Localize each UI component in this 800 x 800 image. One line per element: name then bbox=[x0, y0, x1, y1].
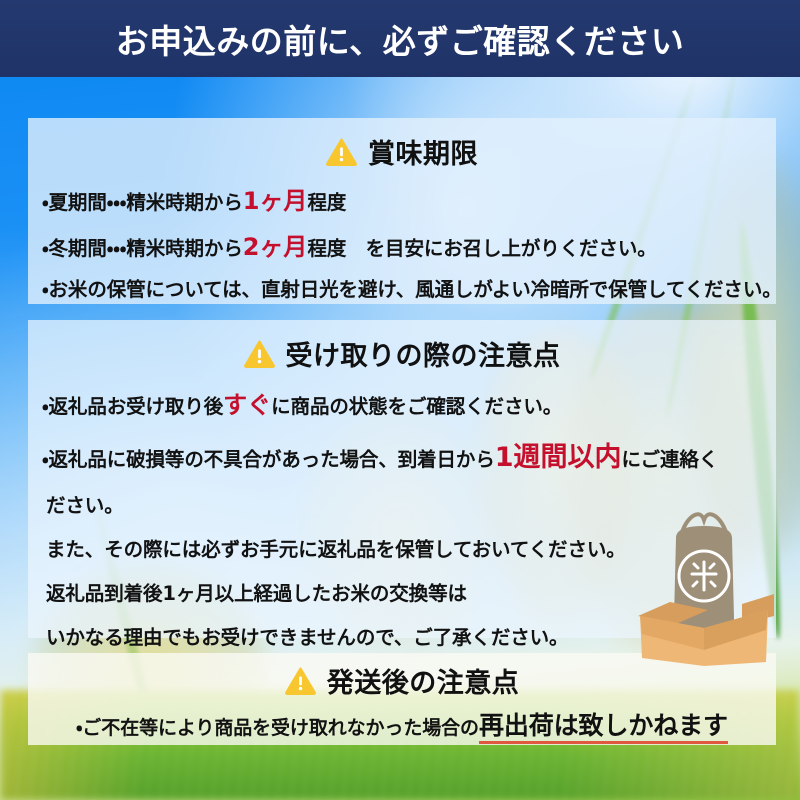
emphasis-text: ださい。 bbox=[42, 494, 124, 517]
header-banner: お申込みの前に、必ずご確認ください bbox=[0, 0, 800, 77]
notice-text: ・夏期間・・・精米時期から bbox=[42, 191, 243, 214]
emphasis-text: 1週間以内 bbox=[495, 442, 622, 473]
panel-after-shipping: 発送後の注意点 ・ご不在等により商品を受け取れなかった場合の再出荷は致しかねます bbox=[28, 653, 776, 745]
page-title: お申込みの前に、必ずご確認ください bbox=[116, 15, 685, 63]
emphasis-text: 1ヶ月 bbox=[243, 187, 308, 215]
notice-text: 程度 を目安にお召し上がりください。 bbox=[307, 237, 656, 260]
notice-text: に商品の状態をご確認ください。 bbox=[271, 395, 562, 418]
notice-text: ・返礼品に破損等の不具合があった場合、到着日から bbox=[42, 448, 495, 471]
panel-expiry-header: 賞味期限 bbox=[28, 118, 776, 171]
emphasis-text: 返礼品到着後1ヶ月以上経過したお米の交換等は bbox=[42, 582, 467, 605]
emphasis-text: 2ヶ月 bbox=[243, 233, 308, 261]
notice-text: ・お米の保管については、直射日光を避け、風通しがよい冷暗所で保管してください。 bbox=[42, 278, 782, 301]
panel-expiry-body: ・夏期間・・・精米時期から1ヶ月程度・冬期間・・・精米時期から2ヶ月程度 を目安… bbox=[28, 171, 776, 302]
emphasis-text: いかなる理由でもお受けできませんので、ご了承ください。 bbox=[42, 626, 568, 649]
notice-text: ・ご不在等により商品を受け取れなかった場合の bbox=[76, 717, 479, 739]
emphasis-text: すぐ bbox=[223, 391, 271, 419]
notice-text: ・返礼品お受け取り後 bbox=[42, 395, 223, 418]
warning-triangle-icon bbox=[326, 138, 357, 166]
notice-line: ・ご不在等により商品を受け取れなかった場合の再出荷は致しかねます bbox=[42, 706, 762, 742]
promotional-notice-image: お申込みの前に、必ずご確認ください bbox=[0, 0, 800, 800]
notice-line: ・お米の保管については、直射日光を避け、風通しがよい冷暗所で保管してください。 bbox=[42, 273, 762, 302]
emphasis-text: また、その際には必ずお手元に返礼品を保管しておいてください。 bbox=[42, 538, 626, 561]
emphasis-text: 再出荷は致しかねます bbox=[479, 711, 728, 744]
notice-line: ・返礼品に破損等の不具合があった場合、到着日から1週間以内にご連絡く bbox=[42, 435, 762, 474]
notice-line: ・返礼品お受け取り後すぐに商品の状態をご確認ください。 bbox=[42, 385, 762, 420]
panel-expiry: 賞味期限 ・夏期間・・・精米時期から1ヶ月程度・冬期間・・・精米時期から2ヶ月程… bbox=[28, 118, 776, 304]
panel-after-shipping-title: 発送後の注意点 bbox=[327, 661, 520, 700]
panel-receiving-header: 受け取りの際の注意点 bbox=[28, 320, 776, 373]
notice-line: ・夏期間・・・精米時期から1ヶ月程度 bbox=[42, 181, 762, 216]
panel-after-shipping-body: ・ご不在等により商品を受け取れなかった場合の再出荷は致しかねます bbox=[28, 700, 776, 742]
notice-text: にご連絡く bbox=[622, 448, 719, 471]
notice-line: ・冬期間・・・精米時期から2ヶ月程度 を目安にお召し上がりください。 bbox=[42, 227, 762, 262]
warning-triangle-icon bbox=[285, 667, 316, 695]
panel-expiry-title: 賞味期限 bbox=[368, 132, 478, 171]
notice-text: 程度 bbox=[307, 191, 346, 214]
notice-text: ・冬期間・・・精米時期から bbox=[42, 237, 243, 260]
panel-receiving-title: 受け取りの際の注意点 bbox=[286, 334, 561, 373]
warning-triangle-icon bbox=[244, 340, 275, 368]
rice-bag-in-carton-illustration bbox=[630, 498, 780, 666]
